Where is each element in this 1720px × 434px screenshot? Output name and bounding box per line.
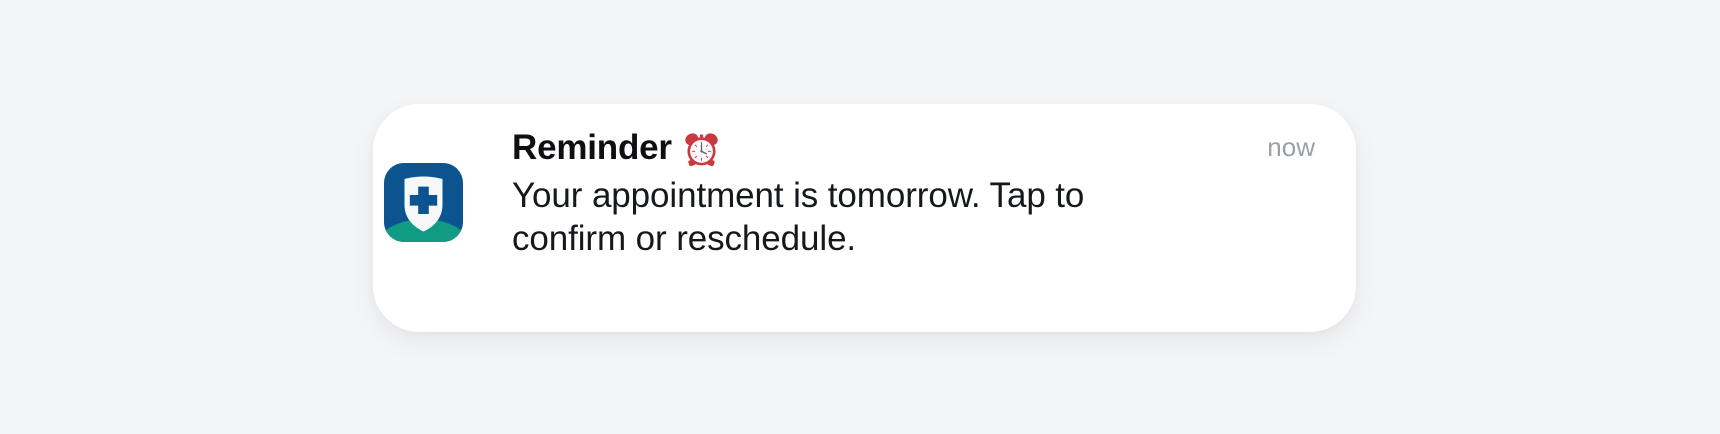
health-shield-app-icon xyxy=(384,163,463,242)
notification-screen: Reminder xyxy=(0,0,1720,434)
notification-title: Reminder xyxy=(512,126,672,170)
notification-title-row: Reminder xyxy=(512,126,1326,170)
notification-timestamp: now xyxy=(1267,130,1315,164)
notification-text-block: Reminder xyxy=(512,126,1326,260)
notification-card[interactable]: Reminder xyxy=(373,104,1356,332)
notification-body-text: Your appointment is tomorrow. Tap to con… xyxy=(512,174,1132,260)
alarm-clock-icon xyxy=(683,131,720,168)
